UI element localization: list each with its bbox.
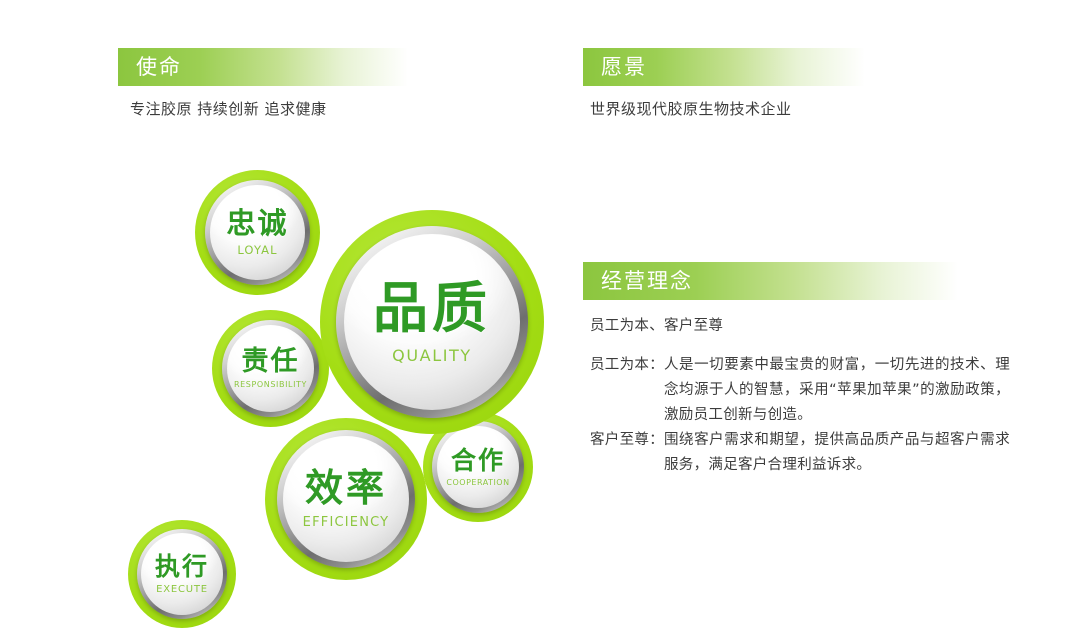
bubble-quality[interactable]: 品质 QUALITY [320,210,544,434]
bubble-face: 合作 COOPERATION [437,426,519,508]
mission-heading: 使命 [136,57,182,78]
bubble-label-en: COOPERATION [446,479,509,487]
culture-page: 使命 专注胶原 持续创新 追求健康 愿景 世界级现代胶原生物技术企业 经营理念 … [0,0,1086,643]
bubble-face: 品质 QUALITY [344,234,520,410]
vision-text: 世界级现代胶原生物技术企业 [590,96,792,122]
bubble-responsibility[interactable]: 责任 RESPONSIBILITY [212,310,329,427]
bubble-face: 忠诚 LOYAL [210,185,305,280]
vision-heading: 愿景 [601,57,647,78]
bubble-efficiency[interactable]: 效率 EFFICIENCY [265,418,427,580]
philosophy-item-label: 客户至尊： [590,428,664,453]
philosophy-item-desc: 人是一切要素中最宝贵的财富，一切先进的技术、理念均源于人的智慧，采用“苹果加苹果… [664,353,1010,428]
philosophy-item: 员工为本： 人是一切要素中最宝贵的财富，一切先进的技术、理念均源于人的智慧，采用… [590,353,1010,428]
philosophy-body: 员工为本、客户至尊 员工为本： 人是一切要素中最宝贵的财富，一切先进的技术、理念… [590,314,1010,478]
bubble-label-cn: 责任 [242,348,300,375]
values-bubble-cluster: 品质 QUALITY 忠诚 LOYAL 责任 RESPONSIBILITY 效率… [110,160,570,620]
bubble-loyal[interactable]: 忠诚 LOYAL [195,170,320,295]
bubble-face: 执行 EXECUTE [141,533,223,615]
bubble-label-cn: 效率 [305,469,387,507]
philosophy-item-label: 员工为本： [590,353,664,378]
bubble-face: 效率 EFFICIENCY [283,436,409,562]
bubble-label-en: LOYAL [237,245,277,257]
philosophy-item-desc: 围绕客户需求和期望，提供高品质产品与超客户需求服务，满足客户合理利益诉求。 [664,428,1010,478]
bubble-execute[interactable]: 执行 EXECUTE [128,520,236,628]
bubble-label-cn: 合作 [451,448,505,473]
section-bar-vision: 愿景 [583,48,865,86]
bubble-label-cn: 执行 [155,554,209,579]
philosophy-heading: 经营理念 [601,271,693,292]
bubble-label-cn: 品质 [373,281,491,336]
bubble-label-cn: 忠诚 [226,209,288,238]
bubble-label-en: EXECUTE [156,585,208,595]
mission-text: 专注胶原 持续创新 追求健康 [130,96,327,122]
bubble-label-en: RESPONSIBILITY [234,381,307,389]
bubble-label-en: EFFICIENCY [303,516,390,529]
philosophy-lead: 员工为本、客户至尊 [590,314,1010,339]
section-bar-mission: 使命 [118,48,408,86]
section-bar-philosophy: 经营理念 [583,262,958,300]
philosophy-item: 客户至尊： 围绕客户需求和期望，提供高品质产品与超客户需求服务，满足客户合理利益… [590,428,1010,478]
bubble-label-en: QUALITY [392,348,472,364]
bubble-face: 责任 RESPONSIBILITY [227,325,314,412]
